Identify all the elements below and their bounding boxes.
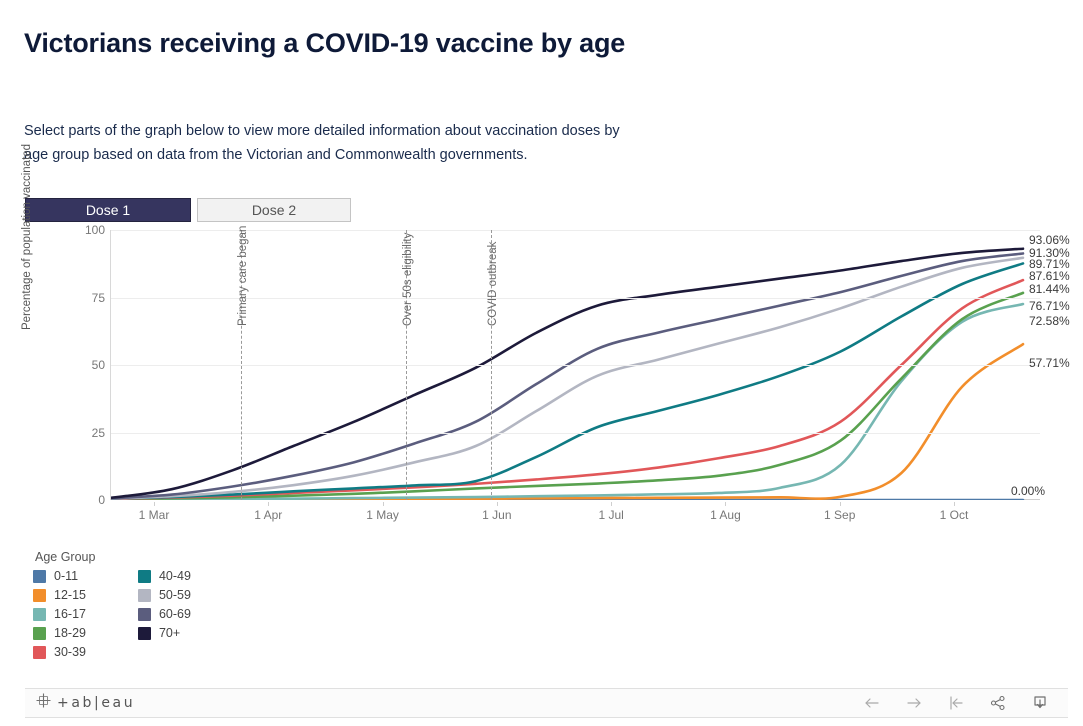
series-end-label-30-39: 81.44% xyxy=(1029,282,1070,296)
tableau-brand[interactable]: +ab|eau xyxy=(35,692,135,714)
x-tickmark xyxy=(954,502,955,506)
x-axis-ticks: 1 Mar1 Apr1 May1 Jun1 Jul1 Aug1 Sep1 Oct xyxy=(110,502,1040,528)
legend-item-30-39[interactable]: 30-39 xyxy=(33,645,86,659)
x-tick-label: 1 Sep xyxy=(824,508,855,522)
share-icon[interactable] xyxy=(988,693,1008,713)
legend-title: Age Group xyxy=(33,550,453,564)
gridline xyxy=(111,365,1040,366)
y-tick-label: 0 xyxy=(47,493,105,507)
legend-swatch xyxy=(138,589,151,602)
y-axis-ticks: 0255075100 xyxy=(47,230,105,500)
gridline xyxy=(111,433,1040,434)
x-tick-label: 1 Mar xyxy=(139,508,170,522)
x-tickmark xyxy=(383,502,384,506)
tableau-toolbar: +ab|eau xyxy=(25,688,1068,718)
legend-item-label: 18-29 xyxy=(54,626,86,640)
legend-item-0-11[interactable]: 0-11 xyxy=(33,569,86,583)
legend-item-label: 30-39 xyxy=(54,645,86,659)
legend-item-label: 12-15 xyxy=(54,588,86,602)
annotation-label: Over 50s eligibility xyxy=(402,233,414,326)
undo-icon[interactable] xyxy=(862,693,882,713)
y-axis-title: Percentage of population vaccinated xyxy=(21,150,33,330)
legend-item-label: 16-17 xyxy=(54,607,86,621)
legend-item-70+[interactable]: 70+ xyxy=(138,626,191,640)
legend-swatch xyxy=(33,589,46,602)
annotation-label: Primary care began xyxy=(237,226,249,326)
series-end-label-70+: 93.06% xyxy=(1029,233,1070,247)
legend-item-40-49[interactable]: 40-49 xyxy=(138,569,191,583)
legend-column-1: 0-1112-1516-1718-2930-39 xyxy=(33,569,86,659)
legend-item-50-59[interactable]: 50-59 xyxy=(138,588,191,602)
page-title: Victorians receiving a COVID-19 vaccine … xyxy=(24,26,644,62)
tab-dose-2[interactable]: Dose 2 xyxy=(197,198,351,222)
redo-icon[interactable] xyxy=(904,693,924,713)
x-tick-label: 1 May xyxy=(366,508,399,522)
tableau-wordmark: +ab|eau xyxy=(57,695,135,711)
legend-item-16-17[interactable]: 16-17 xyxy=(33,607,86,621)
toolbar-actions xyxy=(862,693,1058,713)
legend-swatch xyxy=(33,608,46,621)
x-tick-label: 1 Jul xyxy=(598,508,623,522)
series-end-label-0-11: 0.00% xyxy=(1011,484,1045,498)
legend-swatch xyxy=(138,570,151,583)
series-end-label-16-17: 72.58% xyxy=(1029,314,1070,328)
tableau-viz: Dose 1 Dose 2 Percentage of population v… xyxy=(25,198,1068,688)
x-tickmark xyxy=(725,502,726,506)
legend-item-label: 60-69 xyxy=(159,607,191,621)
y-tick-label: 25 xyxy=(47,426,105,440)
legend-item-18-29[interactable]: 18-29 xyxy=(33,626,86,640)
x-tick-label: 1 Apr xyxy=(254,508,282,522)
legend-item-12-15[interactable]: 12-15 xyxy=(33,588,86,602)
x-tickmark xyxy=(268,502,269,506)
chart-area: Percentage of population vaccinated 0255… xyxy=(25,230,1068,540)
x-tickmark xyxy=(611,502,612,506)
tab-dose-1[interactable]: Dose 1 xyxy=(25,198,191,222)
gridline xyxy=(111,298,1040,299)
viz-page: Victorians receiving a COVID-19 vaccine … xyxy=(0,0,1083,726)
legend-item-label: 40-49 xyxy=(159,569,191,583)
legend-swatch xyxy=(138,627,151,640)
legend-swatch xyxy=(138,608,151,621)
series-end-label-18-29: 76.71% xyxy=(1029,299,1070,313)
legend-item-label: 50-59 xyxy=(159,588,191,602)
y-tick-label: 50 xyxy=(47,358,105,372)
series-end-label-12-15: 57.71% xyxy=(1029,356,1070,370)
y-tick-label: 75 xyxy=(47,291,105,305)
annotation-label: COVID outbreak xyxy=(487,242,499,326)
x-tickmark xyxy=(154,502,155,506)
gridline xyxy=(111,230,1040,231)
page-description: Select parts of the graph below to view … xyxy=(24,119,624,169)
line-series-16-17[interactable] xyxy=(111,304,1023,499)
legend-column-2: 40-4950-5960-6970+ xyxy=(138,569,191,659)
x-tickmark xyxy=(840,502,841,506)
revert-icon[interactable] xyxy=(946,693,966,713)
download-icon[interactable] xyxy=(1030,693,1050,713)
legend-item-60-69[interactable]: 60-69 xyxy=(138,607,191,621)
tableau-logo-icon xyxy=(35,692,52,714)
y-tick-label: 100 xyxy=(47,223,105,237)
series-end-label-40-49: 87.61% xyxy=(1029,269,1070,283)
legend-swatch xyxy=(33,570,46,583)
x-tick-label: 1 Jun xyxy=(482,508,511,522)
x-tick-label: 1 Oct xyxy=(940,508,969,522)
legend-item-label: 70+ xyxy=(159,626,180,640)
plot-area[interactable]: 0.00%57.71%72.58%76.71%81.44%87.61%89.71… xyxy=(110,230,1040,500)
legend-swatch xyxy=(33,646,46,659)
legend: Age Group 0-1112-1516-1718-2930-39 40-49… xyxy=(33,550,453,659)
x-tick-label: 1 Aug xyxy=(710,508,741,522)
x-tickmark xyxy=(497,502,498,506)
series-end-label-60-69: 91.30% xyxy=(1029,246,1070,260)
legend-item-label: 0-11 xyxy=(54,569,78,583)
legend-swatch xyxy=(33,627,46,640)
